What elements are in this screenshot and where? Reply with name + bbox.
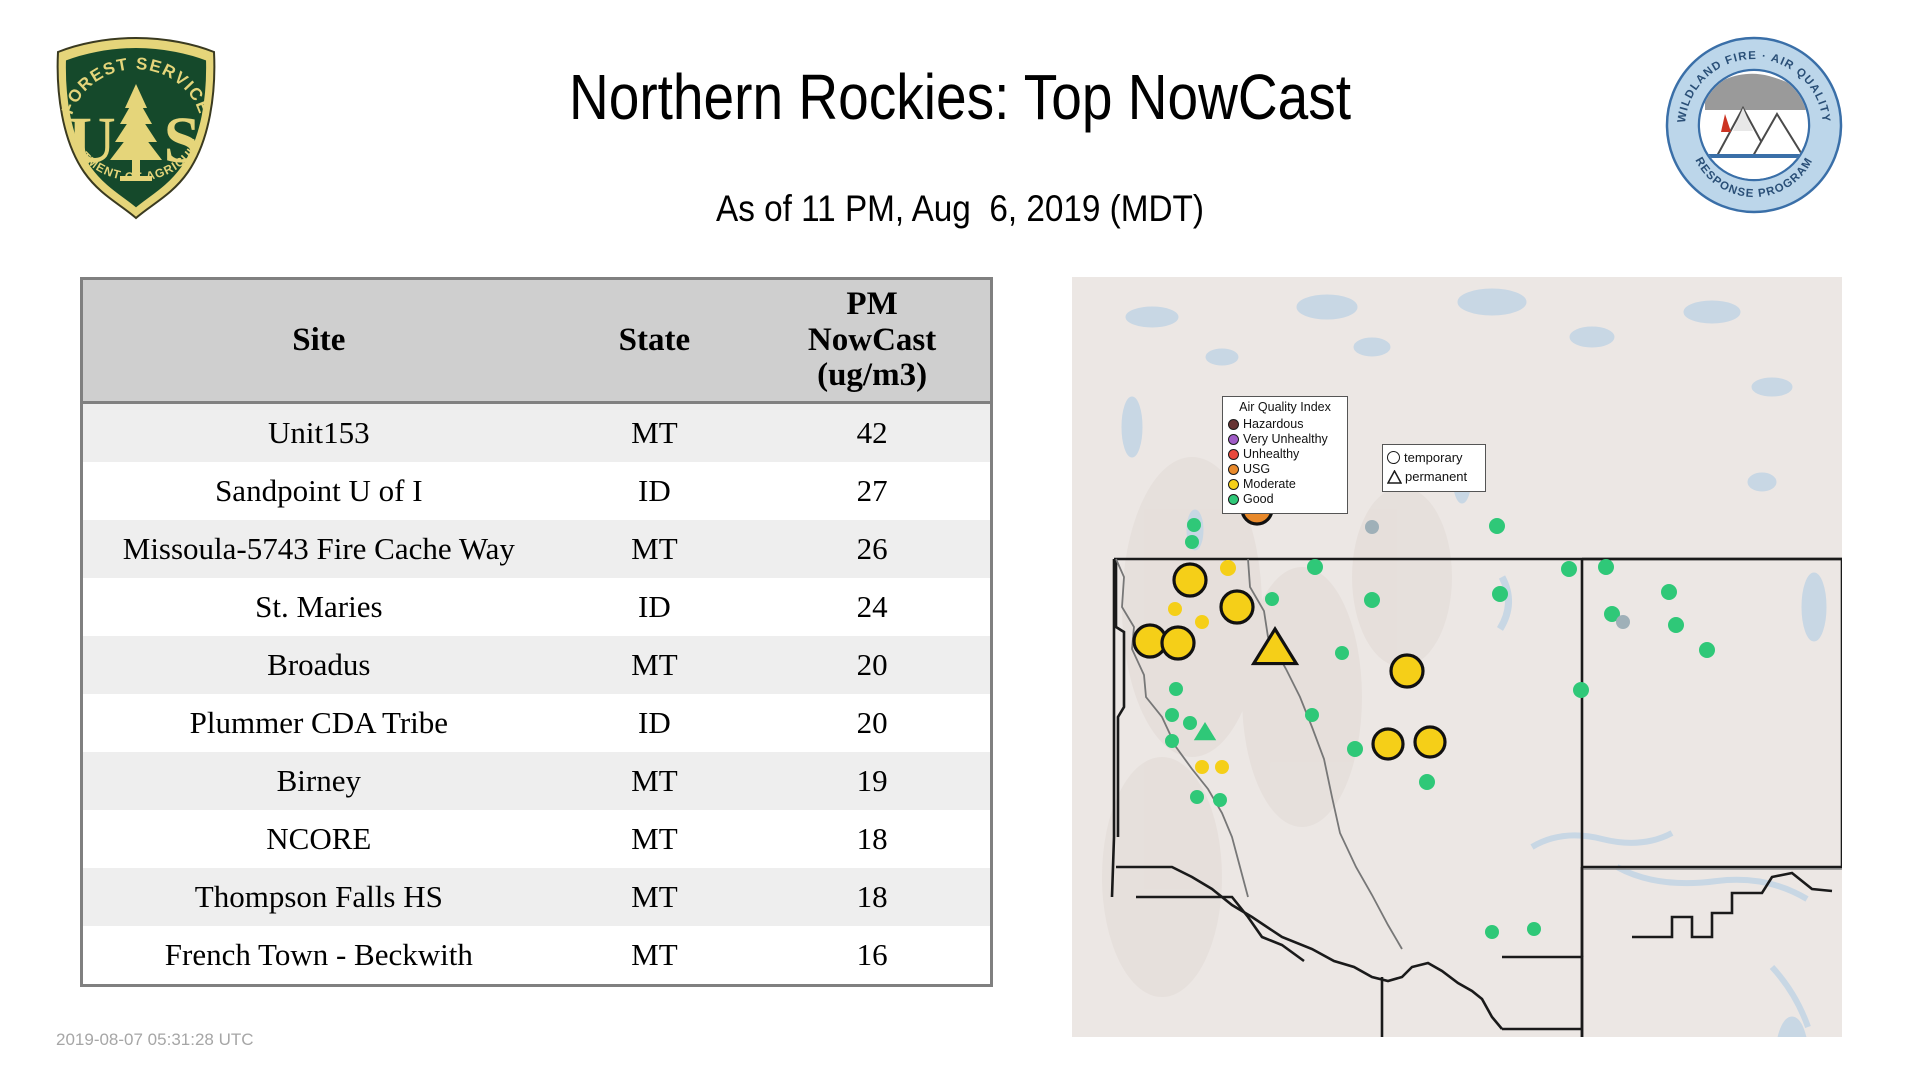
aqi-color-swatch-icon — [1228, 464, 1239, 475]
state-cell: MT — [555, 636, 755, 694]
site-cell: Sandpoint U of I — [83, 462, 555, 520]
pm-nowcast-cell: 16 — [754, 926, 990, 984]
temporary-monitor-marker[interactable] — [1190, 790, 1204, 804]
pm-header-line-3: (ug/m3) — [754, 358, 990, 394]
site-cell: NCORE — [83, 810, 555, 868]
report-page: FOREST SERVICE DEPARTMENT OF AGRICULTURE… — [0, 0, 1920, 1080]
temporary-monitor-marker[interactable] — [1195, 615, 1209, 629]
temporary-monitor-marker[interactable] — [1485, 925, 1499, 939]
state-cell: MT — [555, 868, 755, 926]
temporary-monitor-marker[interactable] — [1165, 734, 1179, 748]
temporary-monitor-marker[interactable] — [1169, 682, 1183, 696]
usfs-shield-logo: FOREST SERVICE DEPARTMENT OF AGRICULTURE… — [48, 32, 224, 222]
nowcast-table: Site State PM NowCast (ug/m3) Unit153MT4… — [83, 280, 990, 984]
pm-nowcast-cell: 42 — [754, 403, 990, 463]
aqi-legend-rows: HazardousVery UnhealthyUnhealthyUSGModer… — [1228, 417, 1342, 507]
column-header-site: Site — [83, 280, 555, 403]
site-cell: Missoula-5743 Fire Cache Way — [83, 520, 555, 578]
pm-nowcast-cell: 20 — [754, 636, 990, 694]
pm-nowcast-cell: 19 — [754, 752, 990, 810]
pm-nowcast-cell: 20 — [754, 694, 990, 752]
site-cell: Broadus — [83, 636, 555, 694]
pm-nowcast-cell: 26 — [754, 520, 990, 578]
state-cell: MT — [555, 520, 755, 578]
aqi-legend-item: Moderate — [1228, 477, 1342, 492]
column-header-pm-nowcast: PM NowCast (ug/m3) — [754, 280, 990, 403]
page-title: Northern Rockies: Top NowCast — [358, 60, 1562, 134]
svg-text:U: U — [68, 104, 116, 177]
temporary-monitor-marker[interactable] — [1347, 741, 1363, 757]
temporary-monitor-marker[interactable] — [1668, 617, 1684, 633]
temporary-monitor-marker[interactable] — [1364, 592, 1380, 608]
site-cell: St. Maries — [83, 578, 555, 636]
aqi-legend-label: USG — [1243, 462, 1270, 477]
state-cell: MT — [555, 926, 755, 984]
aqi-legend-label: Very Unhealthy — [1243, 432, 1328, 447]
temporary-monitor-marker[interactable] — [1185, 535, 1199, 549]
site-cell: French Town - Beckwith — [83, 926, 555, 984]
temporary-monitor-marker[interactable] — [1616, 615, 1630, 629]
temporary-monitor-marker[interactable] — [1598, 559, 1614, 575]
permanent-monitor-icon — [1387, 471, 1401, 483]
temporary-monitor-marker[interactable] — [1195, 760, 1209, 774]
site-cell: Unit153 — [83, 403, 555, 463]
table-row: BirneyMT19 — [83, 752, 990, 810]
table-row: Plummer CDA TribeID20 — [83, 694, 990, 752]
temporary-monitor-marker[interactable] — [1220, 560, 1236, 576]
aqi-legend-item: USG — [1228, 462, 1342, 477]
aqi-legend-item: Good — [1228, 492, 1342, 507]
temporary-monitor-marker[interactable] — [1573, 682, 1589, 698]
aqi-color-swatch-icon — [1228, 494, 1239, 505]
temporary-monitor-marker[interactable] — [1221, 591, 1253, 623]
temporary-monitor-marker[interactable] — [1335, 646, 1349, 660]
temporary-monitor-marker[interactable] — [1391, 655, 1423, 687]
wildland-fire-air-quality-logo: WILDLAND FIRE · AIR QUALITY RESPONSE PRO… — [1665, 36, 1843, 214]
table-row: NCOREMT18 — [83, 810, 990, 868]
temporary-monitor-marker[interactable] — [1162, 627, 1194, 659]
aqi-color-swatch-icon — [1228, 434, 1239, 445]
table-row: Missoula-5743 Fire Cache WayMT26 — [83, 520, 990, 578]
table-row: St. MariesID24 — [83, 578, 990, 636]
temporary-monitor-marker[interactable] — [1492, 586, 1508, 602]
state-cell: ID — [555, 578, 755, 636]
temporary-monitor-marker[interactable] — [1213, 793, 1227, 807]
temporary-monitor-icon — [1387, 451, 1400, 464]
temporary-monitor-marker[interactable] — [1307, 559, 1323, 575]
pm-header-line-2: NowCast — [754, 323, 990, 359]
pm-nowcast-cell: 18 — [754, 810, 990, 868]
pm-nowcast-cell: 24 — [754, 578, 990, 636]
aqi-legend-label: Moderate — [1243, 477, 1296, 492]
pm-nowcast-cell: 27 — [754, 462, 990, 520]
aqi-color-swatch-icon — [1228, 419, 1239, 430]
state-cell: MT — [555, 810, 755, 868]
table-header: Site State PM NowCast (ug/m3) — [83, 280, 990, 403]
site-cell: Thompson Falls HS — [83, 868, 555, 926]
temporary-monitor-marker[interactable] — [1183, 716, 1197, 730]
temporary-monitor-marker[interactable] — [1661, 584, 1677, 600]
temporary-monitor-marker[interactable] — [1373, 729, 1403, 759]
temporary-monitor-marker[interactable] — [1174, 564, 1206, 596]
temporary-monitor-marker[interactable] — [1265, 592, 1279, 606]
site-cell: Plummer CDA Tribe — [83, 694, 555, 752]
temporary-monitor-marker[interactable] — [1168, 602, 1182, 616]
legend-label-permanent: permanent — [1405, 470, 1467, 483]
table-row: French Town - BeckwithMT16 — [83, 926, 990, 984]
temporary-monitor-marker[interactable] — [1165, 708, 1179, 722]
pm-nowcast-cell: 18 — [754, 868, 990, 926]
state-cell: MT — [555, 403, 755, 463]
monitor-type-legend: temporary permanent — [1382, 444, 1486, 492]
table-header-row: Site State PM NowCast (ug/m3) — [83, 280, 990, 403]
state-cell: ID — [555, 462, 755, 520]
table-row: Thompson Falls HSMT18 — [83, 868, 990, 926]
table-body: Unit153MT42Sandpoint U of IID27Missoula-… — [83, 403, 990, 985]
temporary-monitor-marker[interactable] — [1561, 561, 1577, 577]
aqi-legend-label: Hazardous — [1243, 417, 1303, 432]
legend-row-temporary: temporary — [1387, 448, 1481, 467]
aqi-legend-title: Air Quality Index — [1228, 401, 1342, 415]
aqi-legend-label: Good — [1243, 492, 1274, 507]
legend-label-temporary: temporary — [1404, 451, 1463, 464]
temporary-monitor-marker[interactable] — [1415, 727, 1445, 757]
aqi-color-swatch-icon — [1228, 449, 1239, 460]
page-subtitle: As of 11 PM, Aug 6, 2019 (MDT) — [330, 188, 1590, 230]
aqi-color-swatch-icon — [1228, 479, 1239, 490]
temporary-monitor-marker[interactable] — [1365, 520, 1379, 534]
state-cell: ID — [555, 694, 755, 752]
temporary-monitor-marker[interactable] — [1215, 760, 1229, 774]
pm-header-line-1: PM — [754, 287, 990, 323]
nowcast-table-container: Site State PM NowCast (ug/m3) Unit153MT4… — [80, 277, 993, 987]
aqi-legend-label: Unhealthy — [1243, 447, 1299, 462]
table-row: Sandpoint U of IID27 — [83, 462, 990, 520]
temporary-monitor-marker[interactable] — [1527, 922, 1541, 936]
svg-text:S: S — [164, 104, 201, 177]
temporary-monitor-marker[interactable] — [1305, 708, 1319, 722]
table-row: Unit153MT42 — [83, 403, 990, 463]
aqi-legend-item: Hazardous — [1228, 417, 1342, 432]
legend-row-permanent: permanent — [1387, 467, 1481, 486]
generation-timestamp: 2019-08-07 05:31:28 UTC — [56, 1030, 254, 1050]
site-cell: Birney — [83, 752, 555, 810]
aqi-monitor-map[interactable]: Air Quality Index HazardousVery Unhealth… — [1072, 277, 1842, 1037]
aqi-legend-item: Very Unhealthy — [1228, 432, 1342, 447]
aqi-legend-item: Unhealthy — [1228, 447, 1342, 462]
map-canvas — [1072, 277, 1842, 1037]
state-cell: MT — [555, 752, 755, 810]
column-header-state: State — [555, 280, 755, 403]
temporary-monitor-marker[interactable] — [1699, 642, 1715, 658]
temporary-monitor-marker[interactable] — [1187, 518, 1201, 532]
aqi-legend: Air Quality Index HazardousVery Unhealth… — [1222, 396, 1348, 514]
temporary-monitor-marker[interactable] — [1489, 518, 1505, 534]
table-row: BroadusMT20 — [83, 636, 990, 694]
temporary-monitor-marker[interactable] — [1419, 774, 1435, 790]
